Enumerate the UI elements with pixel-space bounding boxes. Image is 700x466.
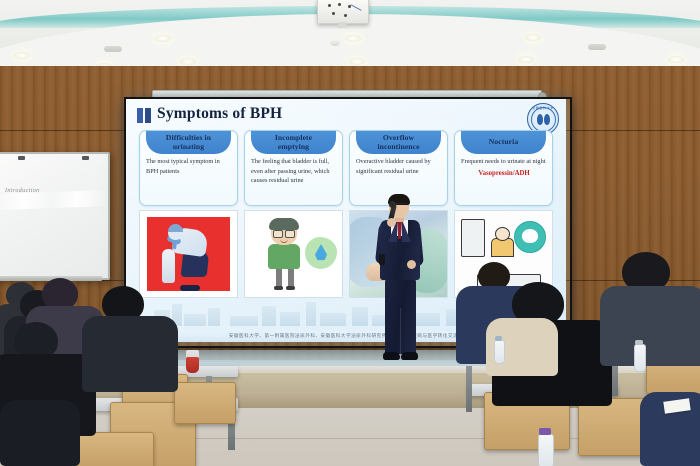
downlight-icon — [525, 34, 541, 41]
ceiling-vent-icon — [588, 44, 606, 50]
smoke-detector-icon — [330, 40, 340, 46]
ceiling — [0, 0, 700, 72]
downlight-icon — [155, 35, 171, 42]
bottle-cap[interactable] — [635, 340, 643, 345]
card-heading-line1: Overflow — [383, 133, 414, 142]
water-bottle-clear[interactable] — [494, 340, 505, 364]
downlight-icon — [349, 58, 365, 65]
symptom-card[interactable]: Nocturia Frequent needs to urinate at ni… — [454, 130, 553, 206]
attendee-far-right — [0, 400, 80, 466]
symptom-card[interactable]: Difficulties in urinating The most typic… — [139, 130, 238, 206]
card-body-text: The feeling that bladder is full, even a… — [251, 157, 337, 186]
lecture-hall-scene: Introduction Symptoms of BPH 安徽医科大学 Diff… — [0, 0, 700, 466]
card-body-text: Frequent needs to urinate at night Vasop… — [461, 157, 547, 178]
downlight-icon — [668, 56, 684, 63]
card-header: Nocturia — [461, 130, 546, 154]
whiteboard-glare — [0, 190, 108, 210]
bottle-cap[interactable] — [495, 336, 502, 341]
card-body-text: Overactive bladder caused by significant… — [356, 157, 442, 176]
presenter-shoe — [383, 352, 400, 360]
whiteboard[interactable]: Introduction — [0, 152, 110, 280]
presentation-clicker[interactable] — [379, 254, 385, 265]
card-body-text: The most typical symptom in BPH patients — [146, 157, 232, 176]
card-accent-term: Vasopressin/ADH — [461, 169, 547, 179]
presenter-speaker — [371, 196, 429, 368]
card-header: Overflow incontinence — [356, 130, 441, 154]
ceiling-vent-icon — [104, 46, 122, 52]
card-heading-line1: Nocturia — [489, 137, 518, 146]
card-header: Difficulties in urinating — [146, 130, 231, 154]
card-heading-line1: Difficulties in — [166, 133, 211, 142]
card-heading-line2: emptying — [278, 142, 309, 151]
card-heading-line2: urinating — [173, 142, 204, 151]
card-heading-line2: incontinence — [377, 142, 419, 151]
projector-mount — [338, 22, 346, 28]
illustration-man-at-urinal — [139, 210, 238, 298]
chair-back[interactable] — [174, 382, 236, 424]
water-bottle-purple-cap[interactable] — [538, 434, 554, 466]
water-bottle-clear[interactable] — [634, 344, 646, 372]
card-header: Incomplete emptying — [251, 130, 336, 154]
downlight-icon — [14, 52, 30, 59]
downlight-icon — [345, 35, 361, 42]
ceiling-projector — [317, 0, 369, 24]
card-heading-line1: Incomplete — [275, 133, 312, 142]
downlight-icon — [518, 56, 534, 63]
attendee-right-hoodie-grey — [604, 252, 700, 362]
card-body-sentence: Frequent needs to urinate at night — [461, 158, 545, 165]
symptom-card-row: Difficulties in urinating The most typic… — [139, 130, 553, 206]
symptom-card[interactable]: Incomplete emptying The feeling that bla… — [244, 130, 343, 206]
downlight-icon — [180, 58, 196, 65]
slide-title: Symptoms of BPH — [157, 105, 282, 123]
illustration-sad-man-water-drop — [244, 210, 343, 298]
bottle-cap[interactable] — [539, 428, 551, 435]
presenter-hand — [387, 218, 396, 227]
desk-leg — [466, 366, 472, 412]
coffee-cup-red[interactable] — [186, 357, 199, 373]
title-accent-bars — [137, 108, 151, 123]
presenter-shoe — [401, 352, 418, 360]
attendee-center-1 — [84, 286, 172, 390]
presenter-hand — [407, 260, 416, 269]
